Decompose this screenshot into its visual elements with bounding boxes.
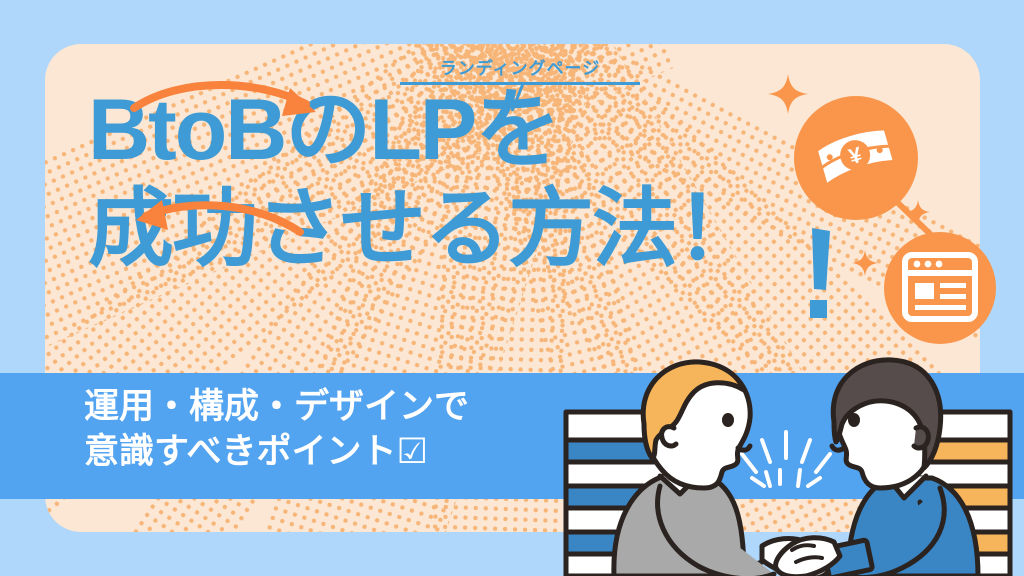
curved-arrow-left-icon <box>128 196 304 247</box>
ruby-annotation: ランディングページ <box>400 60 640 85</box>
handshake-illustration <box>548 336 1024 576</box>
ruby-text: ランディングページ <box>400 60 640 77</box>
curved-arrow-right-icon <box>130 78 330 129</box>
subtitle-line-2: 意識すべきポイント☑ <box>84 430 469 475</box>
subtitle-line-1: 運用・構成・デザインで <box>84 385 469 430</box>
webpage-circle-badge <box>884 232 996 344</box>
banner-canvas: ¥ <box>0 0 1024 576</box>
four-point-sparkle-icon <box>906 200 930 229</box>
webpage-window-icon <box>899 247 981 329</box>
subtitle-block: 運用・構成・デザインで 意識すべきポイント☑ <box>84 385 469 475</box>
four-point-sparkle-icon <box>852 250 878 281</box>
